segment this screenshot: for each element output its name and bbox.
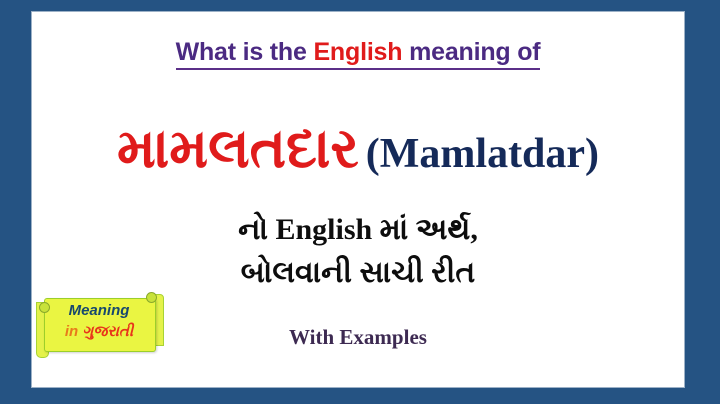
title-segment-leading: What is the — [176, 38, 314, 66]
badge-in-word: in — [65, 323, 83, 340]
badge-line-1: Meaning — [44, 302, 154, 319]
headword-transliteration: (Mamlatdar) — [366, 131, 599, 177]
subtitle-line-2: બોલવાની સાચી રીત — [32, 256, 684, 290]
badge-line-2: in ગુજરાતી — [44, 323, 154, 341]
title-segment-highlight: English — [313, 38, 402, 66]
meaning-in-gujarati-badge: Meaning in ગુજરાતી — [33, 290, 165, 362]
subtitle-line-1: નો English માં અર્થ, — [32, 213, 684, 247]
title-segment-trailing: meaning of — [402, 38, 540, 66]
page-title: What is the English meaning of — [32, 38, 684, 70]
badge-gujarati-word: ગુજરાતી — [82, 324, 133, 340]
headword-gujarati: મામલતદાર — [117, 118, 359, 179]
headword-line: મામલતદાર(Mamlatdar) — [32, 120, 684, 178]
slide-card: What is the English meaning of મામલતદાર(… — [0, 0, 720, 404]
page-title-underline: What is the English meaning of — [176, 38, 541, 70]
content-canvas: What is the English meaning of મામલતદાર(… — [32, 12, 684, 387]
